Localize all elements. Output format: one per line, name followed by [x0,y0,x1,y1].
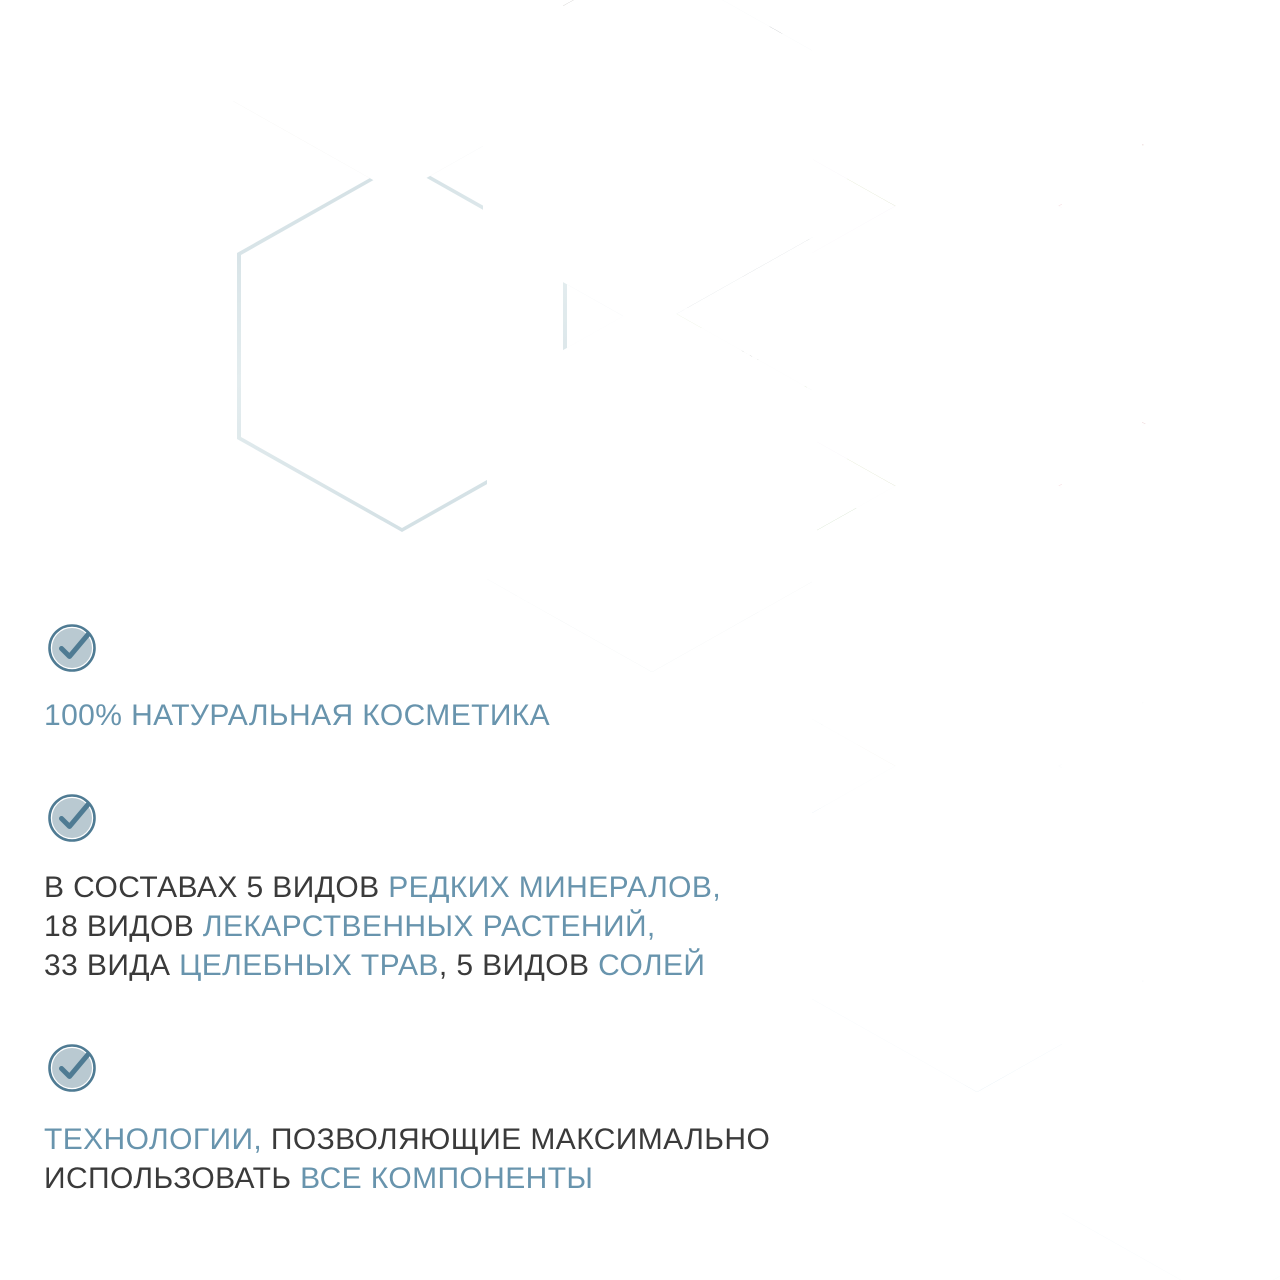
feature-item-3: ТЕХНОЛОГИИ, ПОЗВОЛЯЮЩИЕ МАКСИМАЛЬНО ИСПО… [44,1038,770,1198]
box-benefit-0: тонизирует [672,508,803,517]
jar-subtitle: фито-минеральный комплекс [540,526,640,532]
feature-2-line-0-part-0: В СОСТАВАХ 5 ВИДОВ [44,871,388,904]
box-number: 3 [770,540,796,586]
feature-3-line-1-part-0: ИСПОЛЬЗОВАТЬ [44,1162,300,1195]
box-variant: ВИТАМИННАЯ [672,481,803,493]
feature-2-line-1-part-0: 18 ВИДОВ [44,910,203,943]
box-name: БИОМАСКА [672,467,803,479]
box-brand: БИОБЬЮТИ [673,348,768,365]
jar-number: 3 [610,548,633,590]
box-benefit-1: улучшает цвет лица [672,518,803,527]
jar-name: БИОМАСКА [540,501,640,512]
feature-2-line-2-part-0: 33 ВИДА [44,949,179,982]
feature-item-2: В СОСТАВАХ 5 ВИДОВ РЕДКИХ МИНЕРАЛОВ, 18 … [44,788,721,985]
feature-1-line-0-part-0: 100% НАТУРАЛЬНАЯ КОСМЕТИКА [44,699,550,732]
feature-text-2: В СОСТАВАХ 5 ВИДОВ РЕДКИХ МИНЕРАЛОВ, 18 … [44,868,721,985]
box-subtitle: фито-минеральный комплекс [672,495,803,501]
product-box: БИОБЬЮТИ БИОМАСКА ВИТАМИННАЯ фито-минера… [659,322,808,612]
jar-brand: БИОБЬЮТИ [540,482,640,498]
feature-3-line-0-part-0: ТЕХНОЛОГИИ, [44,1123,262,1156]
feature-item-1: 100% НАТУРАЛЬНАЯ КОСМЕТИКА [44,618,550,735]
check-circle-icon [44,788,102,846]
box-benefit-2: освежает [672,527,803,536]
feature-3-line-0-part-1: ПОЗВОЛЯЮЩИЕ МАКСИМАЛЬНО [262,1123,770,1156]
jar-variant: ВИТАМИННАЯ [540,513,640,524]
check-circle-icon [44,618,102,676]
check-circle-icon [44,1038,102,1096]
feature-2-line-0-part-1: РЕДКИХ МИНЕРАЛОВ, [388,871,721,904]
feature-2-line-2-part-1: ЦЕЛЕБНЫХ ТРАВ [179,949,439,982]
feature-2-line-2-part-3: СОЛЕЙ [598,949,705,982]
feature-2-line-2-part-2: , 5 ВИДОВ [439,949,598,982]
poster-canvas: БИОБЬЮТИ БИОМАСКА ВИТАМИННАЯ фито-минера… [0,0,1280,1280]
feature-text-1: 100% НАТУРАЛЬНАЯ КОСМЕТИКА [44,696,550,735]
feature-3-line-1-part-1: ВСЕ КОМПОНЕНТЫ [300,1162,593,1195]
feature-2-line-1-part-1: ЛЕКАРСТВЕННЫХ РАСТЕНИЙ, [203,910,656,943]
feature-text-3: ТЕХНОЛОГИИ, ПОЗВОЛЯЮЩИЕ МАКСИМАЛЬНО ИСПО… [44,1120,770,1198]
